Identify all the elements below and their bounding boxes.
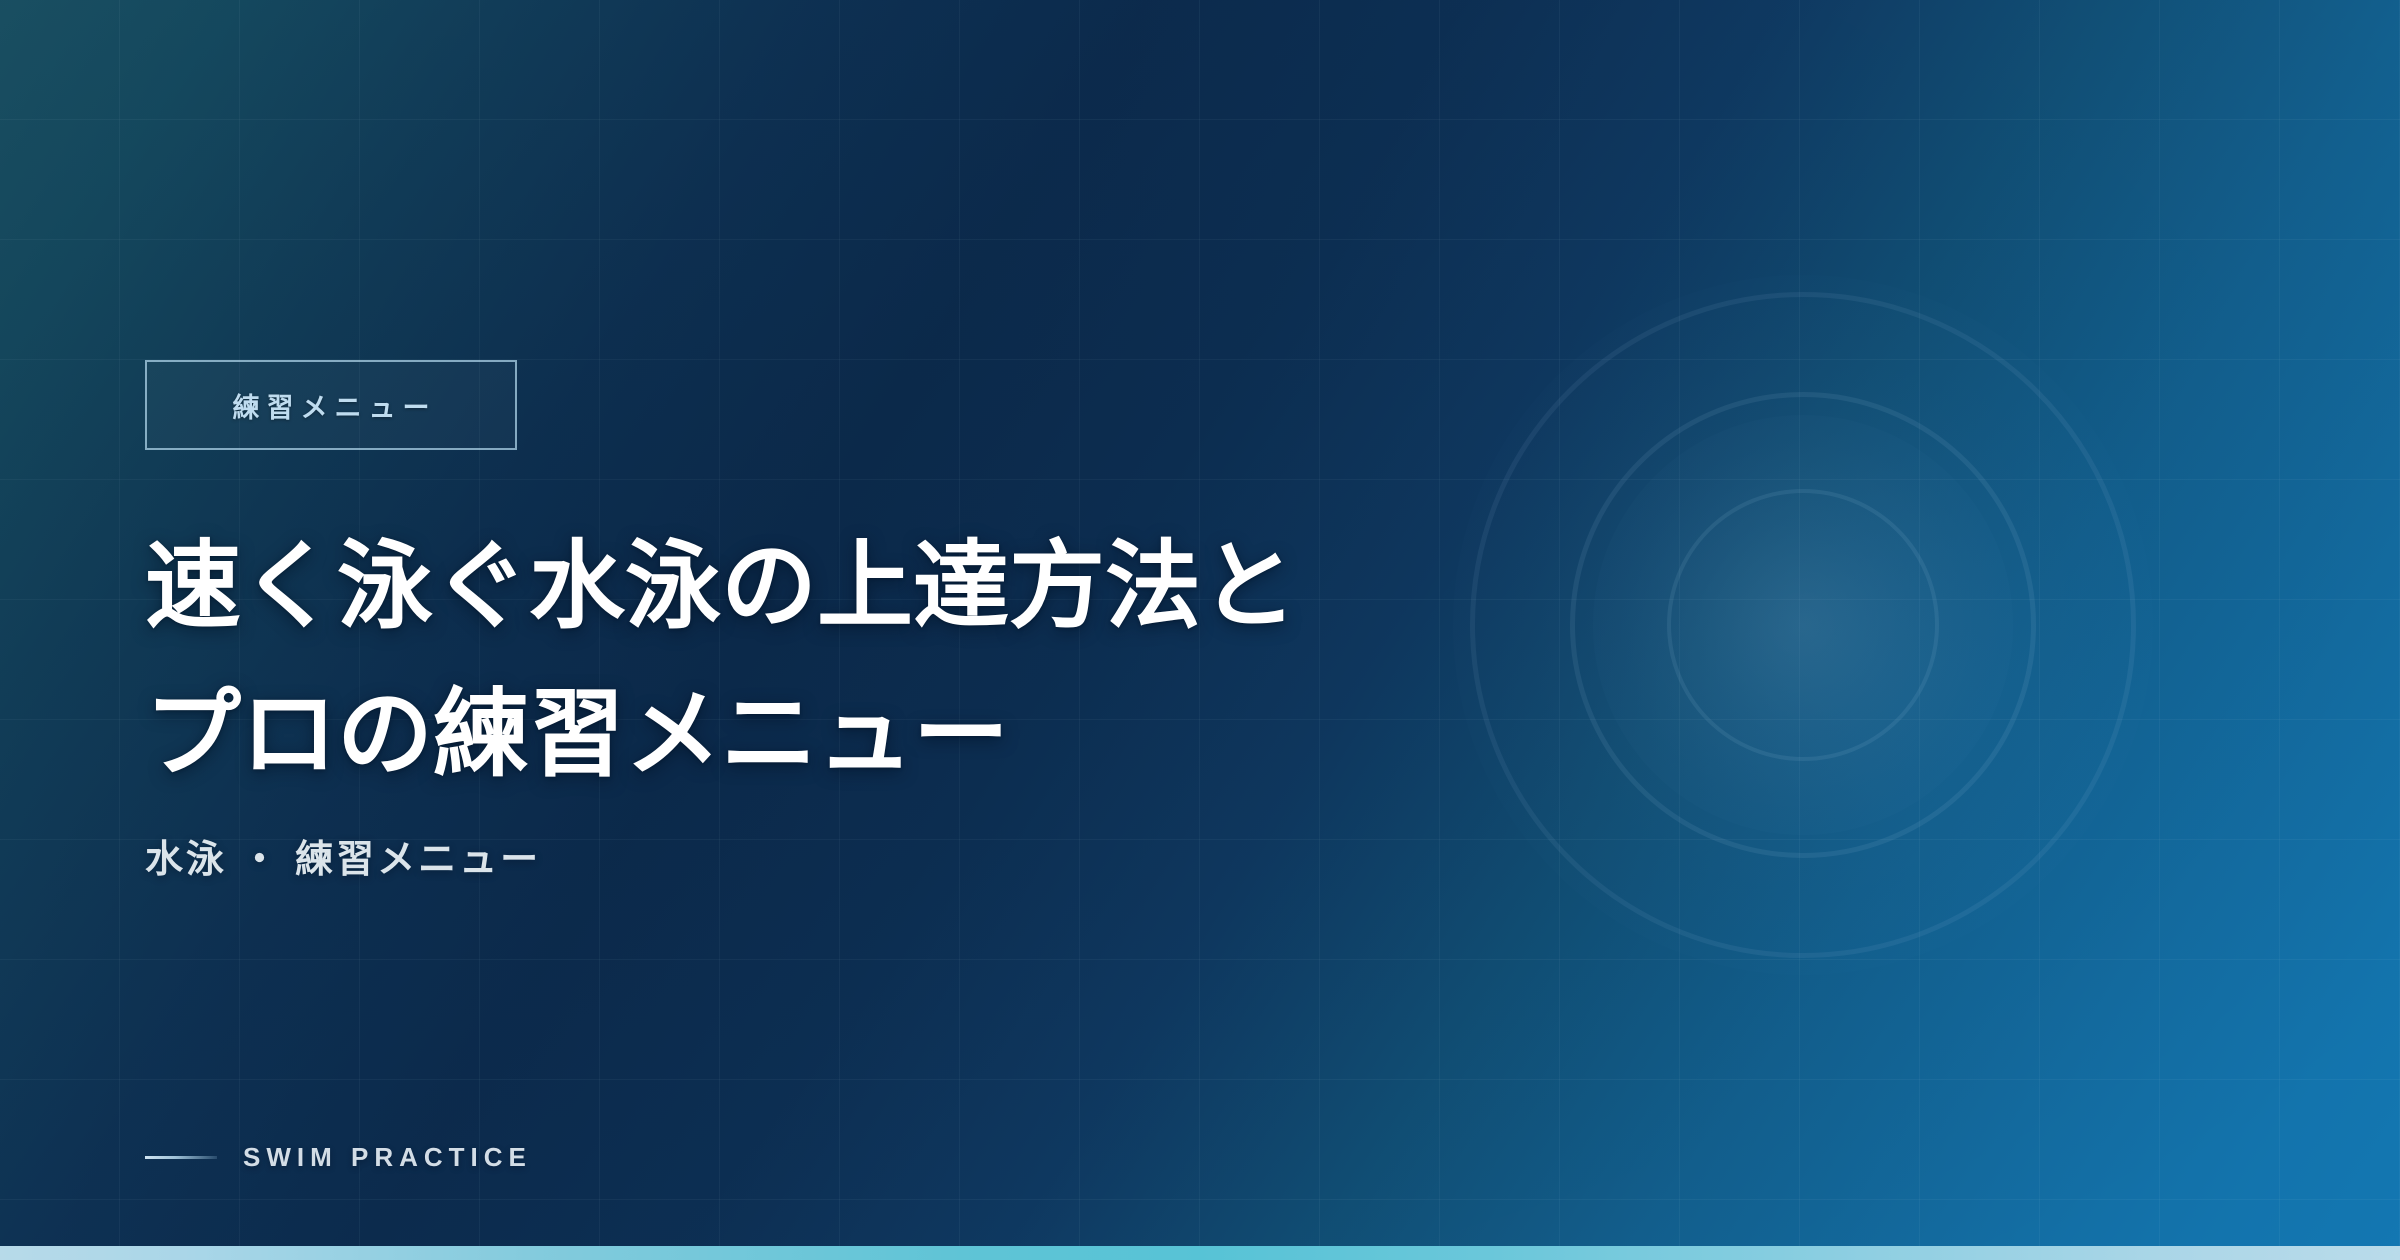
center-glow [1593,415,2013,835]
page-title: 速く泳ぐ水泳の上達方法と プロの練習メニュー [145,512,1565,808]
ring-inner [1667,489,1939,761]
page-title-line-1: 速く泳ぐ水泳の上達方法と [145,512,1565,660]
bottom-accent-bar [0,1246,2400,1260]
dash-icon [145,1156,217,1159]
hero-banner: 練習メニュー 速く泳ぐ水泳の上達方法と プロの練習メニュー 水泳 ・ 練習メニュ… [0,0,2400,1260]
page-subtitle: 水泳 ・ 練習メニュー [145,828,541,883]
footer-eyebrow-label: SWIM PRACTICE [243,1142,532,1173]
category-badge-label: 練習メニュー [226,386,437,425]
category-badge: 練習メニュー [145,360,517,450]
page-title-line-2: プロの練習メニュー [145,660,1565,808]
footer-eyebrow: SWIM PRACTICE [145,1142,532,1173]
hero-content: 練習メニュー 速く泳ぐ水泳の上達方法と プロの練習メニュー 水泳 ・ 練習メニュ… [145,0,1645,1260]
